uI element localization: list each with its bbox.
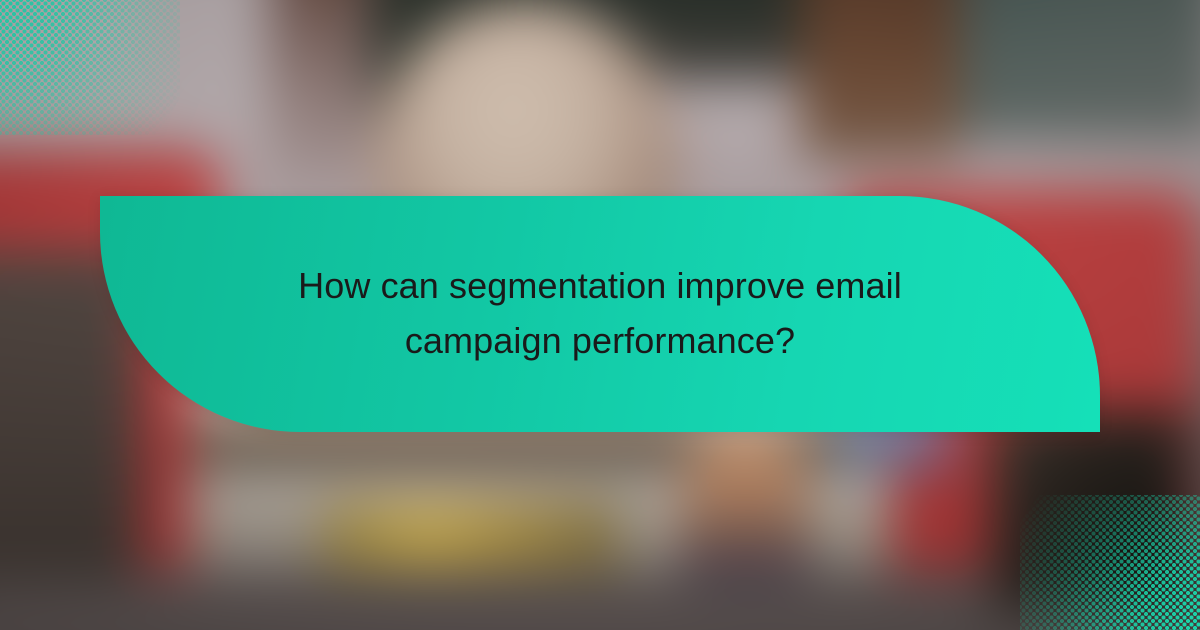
question-title: How can segmentation improve email campa… xyxy=(260,259,940,368)
question-card: How can segmentation improve email campa… xyxy=(100,196,1100,432)
question-card-screenshot: How can segmentation improve email campa… xyxy=(0,0,1200,630)
